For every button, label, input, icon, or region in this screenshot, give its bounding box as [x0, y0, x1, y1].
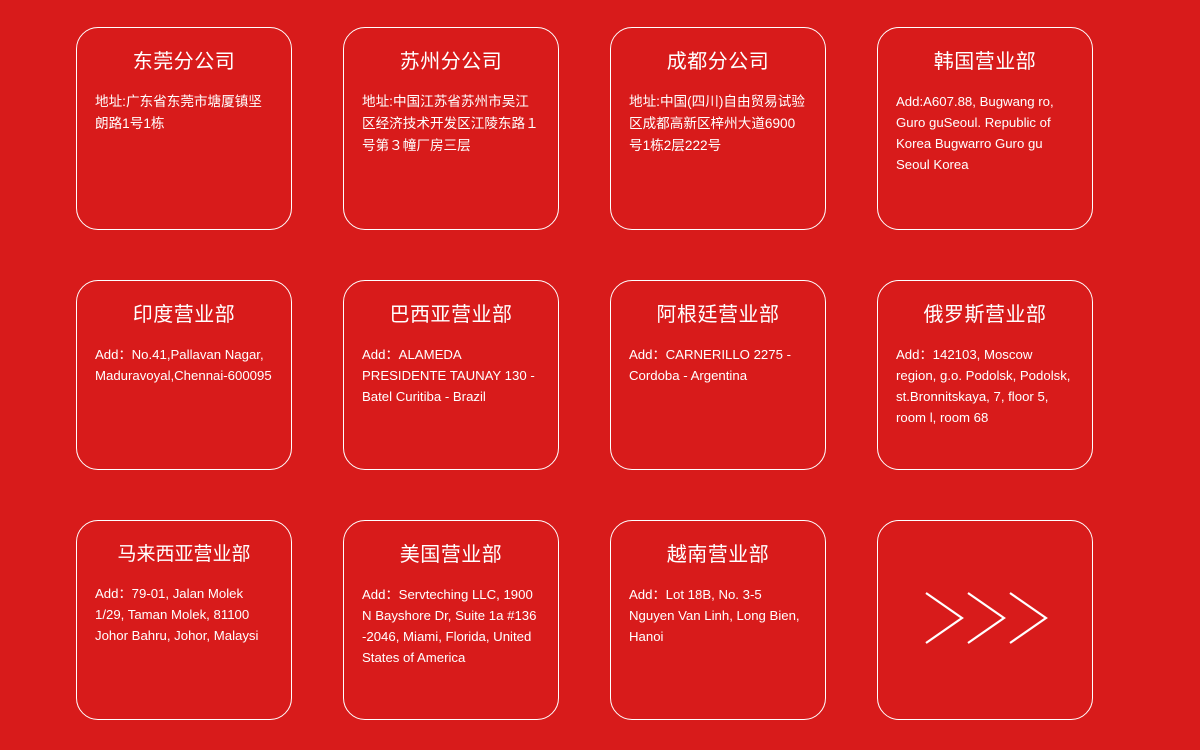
branch-card-usa[interactable]: 美国营业部 Add：Servteching LLC, 1900 N Baysho… [343, 520, 559, 720]
triple-chevron-right-icon[interactable] [920, 583, 1050, 658]
card-address: Add:A607.88, Bugwang ro, Guro guSeoul. R… [896, 91, 1074, 175]
card-address: Add：CARNERILLO 2275 - Cordoba - Argentin… [629, 344, 807, 386]
branch-card-korea[interactable]: 韩国营业部 Add:A607.88, Bugwang ro, Guro guSe… [877, 27, 1093, 230]
branch-card-dongguan[interactable]: 东莞分公司 地址:广东省东莞市塘厦镇坚朗路1号1栋 [76, 27, 292, 230]
branch-card-malaysia[interactable]: 马来西亚营业部 Add：79-01, Jalan Molek 1/29, Tam… [76, 520, 292, 720]
card-address: 地址:广东省东莞市塘厦镇坚朗路1号1栋 [95, 91, 273, 135]
card-address: 地址:中国江苏省苏州市吴江区经济技术开发区江陵东路１号第３幢厂房三层 [362, 91, 540, 157]
card-title: 成都分公司 [629, 50, 807, 75]
card-address: 地址:中国(四川)自由贸易试验区成都高新区梓州大道6900号1栋2层222号 [629, 91, 807, 157]
card-address: Add：79-01, Jalan Molek 1/29, Taman Molek… [95, 583, 273, 646]
card-address: Add：No.41,Pallavan Nagar, Maduravoyal,Ch… [95, 344, 273, 386]
card-title: 阿根廷营业部 [629, 303, 807, 328]
branch-card-suzhou[interactable]: 苏州分公司 地址:中国江苏省苏州市吴江区经济技术开发区江陵东路１号第３幢厂房三层 [343, 27, 559, 230]
card-title: 巴西亚营业部 [362, 303, 540, 328]
card-title: 韩国营业部 [896, 50, 1074, 75]
card-address: Add：142103, Moscow region, g.o. Podolsk,… [896, 344, 1074, 428]
card-title: 美国营业部 [362, 543, 540, 568]
branch-card-vietnam[interactable]: 越南营业部 Add：Lot 18B, No. 3-5 Nguyen Van Li… [610, 520, 826, 720]
branch-card-argentina[interactable]: 阿根廷营业部 Add：CARNERILLO 2275 - Cordoba - A… [610, 280, 826, 470]
branch-card-chengdu[interactable]: 成都分公司 地址:中国(四川)自由贸易试验区成都高新区梓州大道6900号1栋2层… [610, 27, 826, 230]
card-title: 苏州分公司 [362, 50, 540, 75]
branch-card-russia[interactable]: 俄罗斯营业部 Add：142103, Moscow region, g.o. P… [877, 280, 1093, 470]
card-address: Add：Lot 18B, No. 3-5 Nguyen Van Linh, Lo… [629, 584, 807, 647]
card-title: 俄罗斯营业部 [896, 303, 1074, 328]
branch-card-brazil[interactable]: 巴西亚营业部 Add：ALAMEDA PRESIDENTE TAUNAY 130… [343, 280, 559, 470]
card-title: 印度营业部 [95, 303, 273, 328]
branch-offices-grid: 东莞分公司 地址:广东省东莞市塘厦镇坚朗路1号1栋 苏州分公司 地址:中国江苏省… [76, 27, 1092, 723]
card-title: 越南营业部 [629, 543, 807, 568]
card-title: 马来西亚营业部 [95, 543, 273, 567]
card-address: Add：Servteching LLC, 1900 N Bayshore Dr,… [362, 584, 540, 668]
card-title: 东莞分公司 [95, 50, 273, 75]
card-address: Add：ALAMEDA PRESIDENTE TAUNAY 130 - Bate… [362, 344, 540, 407]
branch-card-india[interactable]: 印度营业部 Add：No.41,Pallavan Nagar, Maduravo… [76, 280, 292, 470]
branch-card-more[interactable] [877, 520, 1093, 720]
